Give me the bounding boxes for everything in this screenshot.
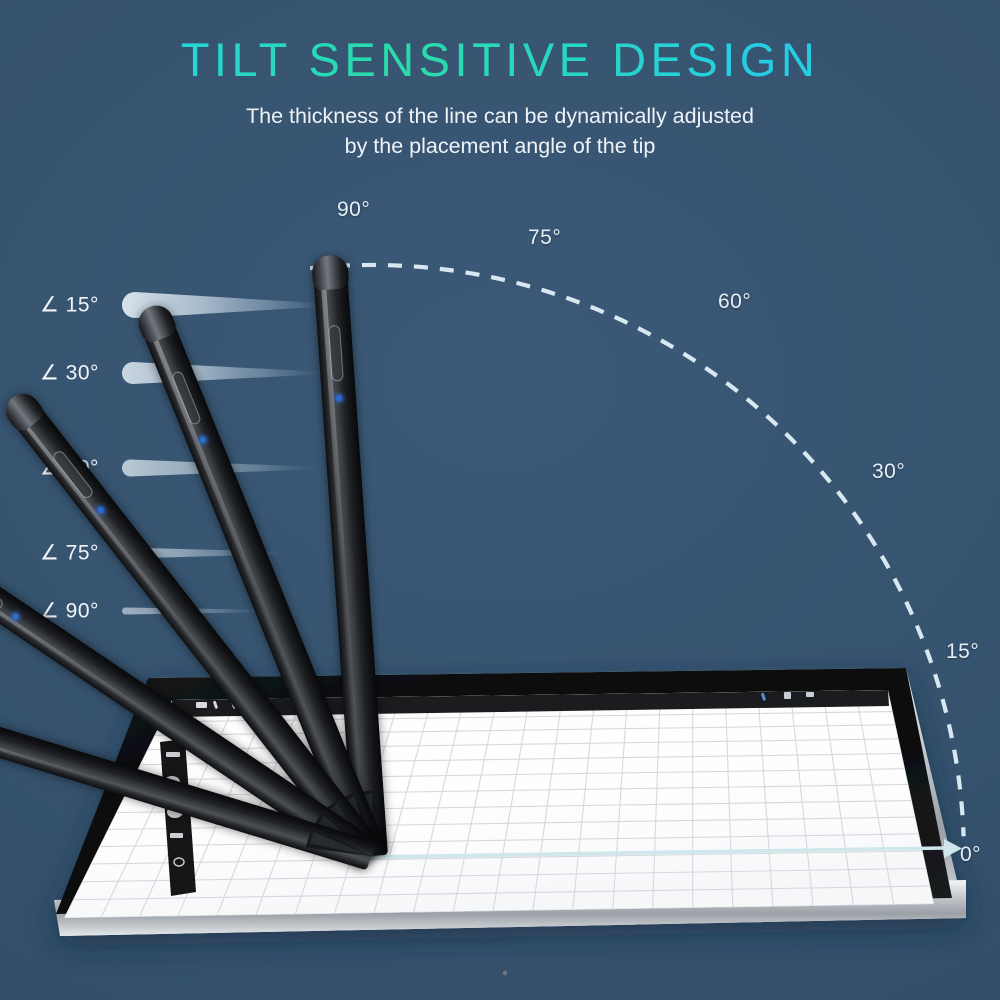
legend-angle-label-15deg: ∠ 15°: [40, 293, 99, 318]
protractor-label-30deg: 30°: [872, 460, 905, 484]
legend-angle-label-30deg: ∠ 30°: [40, 361, 99, 386]
protractor-overlay: [0, 0, 1000, 1000]
protractor-label-0deg: 0°: [960, 843, 981, 867]
infographic-stage: TILT SENSITIVE DESIGN The thickness of t…: [0, 0, 1000, 1000]
baseline-arrow: [372, 839, 962, 858]
stroke-sample-30deg: [118, 358, 324, 388]
legend-angle-label-75deg: ∠ 75°: [40, 541, 99, 566]
stylus-cap: [311, 254, 349, 290]
protractor-label-75deg: 75°: [528, 226, 561, 250]
stylus-led-indicator: [335, 395, 341, 401]
protractor-label-15deg: 15°: [946, 640, 979, 664]
protractor-label-90deg: 90°: [337, 198, 370, 222]
protractor-label-60deg: 60°: [718, 290, 751, 314]
